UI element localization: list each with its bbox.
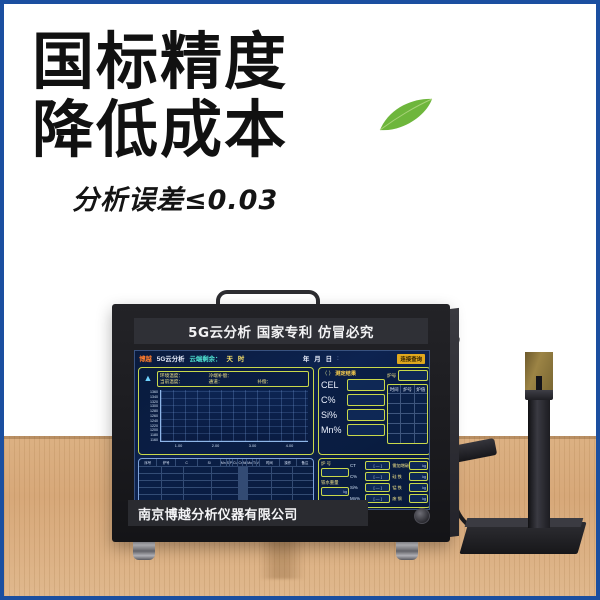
cell xyxy=(388,404,401,413)
cell xyxy=(139,481,162,487)
y-tick: 1340 xyxy=(140,395,158,399)
foot-left xyxy=(133,540,155,560)
cell xyxy=(162,488,185,494)
cell xyxy=(184,467,212,473)
calc-element-ct: CT xyxy=(350,463,363,468)
result-side-column: 炉号 时间 炉号 炉值 xyxy=(387,370,428,452)
y-tick: 1300 xyxy=(140,404,158,408)
cell xyxy=(212,467,240,473)
graph-readout-labels: 环境温度： 冷端补偿： 当前温度： 通道： 补偿： xyxy=(157,371,309,387)
cell xyxy=(415,394,427,403)
cell xyxy=(401,414,414,423)
y-tick: 1260 xyxy=(140,414,158,418)
log-col: 序号 xyxy=(139,459,157,466)
brand-footer-bar: 南京博越分析仪器有限公司 xyxy=(128,500,368,526)
history-col-time: 时间 xyxy=(388,385,401,393)
log-table-header: 序号 炉号 C Si Mn S P Cu Cr Ni Mo Ti V 时间 xyxy=(139,459,313,467)
result-row-c: C% xyxy=(321,394,385,406)
power-button[interactable] xyxy=(414,508,430,524)
result-row-mn: Mn% xyxy=(321,424,385,436)
instrument-side-panel xyxy=(450,308,459,537)
cell xyxy=(415,434,427,443)
table-row[interactable] xyxy=(139,474,313,481)
calc-weight-label: 铁水重量 xyxy=(321,480,349,486)
cell xyxy=(248,467,272,473)
foot-right xyxy=(396,540,418,560)
y-tick: 1240 xyxy=(140,419,158,423)
result-rows: CEL C% Si% Mn% xyxy=(321,379,385,439)
table-row[interactable] xyxy=(139,481,313,488)
cell xyxy=(162,474,185,480)
log-col: C xyxy=(176,459,198,466)
y-tick: 1320 xyxy=(140,400,158,404)
cell xyxy=(293,474,313,480)
cell xyxy=(248,488,272,494)
probe-stand-column xyxy=(528,396,550,528)
date-day-label: 日 xyxy=(326,354,332,363)
y-tick: 1220 xyxy=(140,424,158,428)
log-col: 操作 xyxy=(280,459,297,466)
probe-stand-base-top xyxy=(465,518,584,527)
result-label-mn: Mn% xyxy=(321,425,344,435)
cell xyxy=(388,414,401,423)
calc-furnace-label: 炉 号 xyxy=(321,461,349,467)
cell xyxy=(388,434,401,443)
date-month-label: 月 xyxy=(314,354,320,363)
headline-line-1: 国标精度 xyxy=(32,30,452,94)
calc-rows: CT [ — ] 需加增碳 C% [ — ] 硅 铁 xyxy=(350,461,428,505)
leaf-icon xyxy=(376,96,436,141)
cell xyxy=(272,481,293,487)
log-col: Si xyxy=(198,459,220,466)
calc-weight-input[interactable] xyxy=(321,487,349,496)
screen-body: ▲ 环境温度： 冷端补偿： 当前温度： 通道： 补偿： 1360 1340 13… xyxy=(138,367,426,506)
result-value-mn[interactable] xyxy=(347,424,385,436)
y-tick: 1280 xyxy=(140,409,158,413)
x-tick: 1.00 xyxy=(175,444,182,452)
graph-x-axis: 1.00 2.00 3.00 4.00 xyxy=(160,444,308,452)
cell xyxy=(248,481,272,487)
history-table[interactable]: 时间 炉号 炉值 xyxy=(387,384,428,444)
cell xyxy=(415,414,427,423)
calc-result-si[interactable] xyxy=(409,483,428,492)
temperature-graph-panel[interactable]: ▲ 环境温度： 冷端补偿： 当前温度： 通道： 补偿： 1360 1340 13… xyxy=(138,367,314,455)
cell xyxy=(401,394,414,403)
result-row-si: Si% xyxy=(321,409,385,421)
calc-range-mn[interactable]: [ — ] xyxy=(365,494,390,503)
probe-brass-notch xyxy=(536,376,542,390)
cell xyxy=(401,434,414,443)
screen-product: 5G云分析 xyxy=(157,354,185,363)
cell xyxy=(212,474,240,480)
cell xyxy=(162,481,185,487)
calc-range-ct[interactable]: [ — ] xyxy=(365,461,390,470)
calc-element-si: Si% xyxy=(350,485,363,490)
cell xyxy=(162,467,185,473)
calc-result-ct[interactable] xyxy=(409,461,428,470)
cell xyxy=(388,394,401,403)
furnace-number-field[interactable]: 炉号 xyxy=(387,370,428,381)
result-value-si[interactable] xyxy=(347,409,385,421)
query-button[interactable]: 连接查询 xyxy=(397,354,425,364)
cell xyxy=(272,474,293,480)
history-table-header: 时间 炉号 炉值 xyxy=(388,385,427,394)
time-separator: : xyxy=(337,355,339,362)
log-col: 备注 xyxy=(297,459,313,466)
calc-left-column: 炉 号 铁水重量 xyxy=(321,461,349,499)
furnace-number-input[interactable] xyxy=(398,370,428,381)
graph-plot-area xyxy=(160,390,308,442)
calc-row-c: C% [ — ] 硅 铁 xyxy=(350,472,428,481)
cell xyxy=(401,404,414,413)
calc-addlabel-ct: 需加增碳 xyxy=(392,463,407,469)
graph-y-axis: 1360 1340 1320 1300 1280 1260 1240 1220 … xyxy=(140,390,159,442)
cell xyxy=(415,424,427,433)
calc-range-c[interactable]: [ — ] xyxy=(365,472,390,481)
cell xyxy=(139,467,162,473)
calc-row-ct: CT [ — ] 需加增碳 xyxy=(350,461,428,470)
cell xyxy=(139,488,162,494)
measurement-result-panel[interactable]: （ ） 测定结果 CEL C% Si% xyxy=(318,367,430,455)
cloud-remaining-label: 云端剩余： xyxy=(189,354,221,363)
cloud-remaining-days: 天 xyxy=(226,354,232,363)
result-label-cel: CEL xyxy=(321,380,344,390)
y-tick: 1160 xyxy=(140,438,158,442)
graph-label-4: 通道： xyxy=(209,379,258,385)
cell xyxy=(272,467,293,473)
instrument-screen[interactable]: 博越 5G云分析 云端剩余： 天 时 年 月 日 : 连接查询 ▲ 环境温度： xyxy=(134,350,430,510)
calc-range-si[interactable]: [ — ] xyxy=(365,483,390,492)
cell xyxy=(293,467,313,473)
cell xyxy=(139,474,162,480)
calc-row-si: Si% [ — ] 锰 铁 xyxy=(350,483,428,492)
cell xyxy=(184,474,212,480)
cell xyxy=(212,488,240,494)
cell xyxy=(272,488,293,494)
cloud-remaining-hours: 时 xyxy=(238,354,244,363)
x-tick: 4.00 xyxy=(286,444,293,452)
graph-label-5: 补偿： xyxy=(257,379,306,385)
log-col: 时间 xyxy=(260,459,280,466)
x-tick: 2.00 xyxy=(212,444,219,452)
x-tick: 3.00 xyxy=(249,444,256,452)
result-row-cel: CEL xyxy=(321,379,385,391)
result-title-prefix: （ ） xyxy=(322,371,334,377)
result-label-si: Si% xyxy=(321,410,344,420)
cell xyxy=(184,488,212,494)
result-value-cel[interactable] xyxy=(347,379,385,391)
calc-addlabel-si: 锰 铁 xyxy=(392,485,407,491)
poster-canvas: 国标精度 降低成本 分析误差≤0.03 5G云分析 国家专利 仿冒必究 xyxy=(0,0,600,600)
table-row[interactable] xyxy=(139,467,313,474)
table-row[interactable] xyxy=(388,434,427,443)
history-col-furnace: 炉号 xyxy=(401,385,414,393)
y-tick: 1360 xyxy=(140,390,158,394)
table-row[interactable] xyxy=(388,404,427,414)
result-label-c: C% xyxy=(321,395,344,405)
result-title: 测定结果 xyxy=(335,371,356,377)
date-year-label: 年 xyxy=(303,354,309,363)
top-banner-text: 5G云分析 国家专利 仿冒必究 xyxy=(188,321,374,341)
graph-logo-icon: ▲ xyxy=(142,372,154,384)
calc-addlabel-c: 硅 铁 xyxy=(392,474,407,480)
calc-addlabel-mn: 废 钢 xyxy=(392,496,407,502)
screen-brand: 博越 xyxy=(139,354,152,363)
headline-subline: 分析误差≤0.03 xyxy=(72,178,452,217)
cell xyxy=(248,474,272,480)
instrument-chassis: 5G云分析 国家专利 仿冒必究 博越 5G云分析 云端剩余： 天 时 年 月 日… xyxy=(112,304,450,542)
calc-furnace-input[interactable] xyxy=(321,468,349,477)
cell xyxy=(401,424,414,433)
calc-element-c: C% xyxy=(350,474,363,479)
result-value-c[interactable] xyxy=(347,394,385,406)
log-col: 炉号 xyxy=(157,459,175,466)
furnace-number-label: 炉号 xyxy=(387,373,396,379)
y-tick: 1200 xyxy=(140,428,158,432)
result-panel-title: （ ） 测定结果 xyxy=(322,370,356,377)
table-row[interactable] xyxy=(139,488,313,495)
cell xyxy=(212,481,240,487)
brand-footer-text: 南京博越分析仪器有限公司 xyxy=(138,504,298,523)
history-col-value: 炉值 xyxy=(415,385,427,393)
cell xyxy=(415,404,427,413)
cell xyxy=(184,481,212,487)
graph-label-3: 当前温度： xyxy=(160,379,209,385)
table-row[interactable] xyxy=(388,414,427,424)
calc-result-mn[interactable] xyxy=(409,494,428,503)
cell xyxy=(293,488,313,494)
table-row[interactable] xyxy=(388,394,427,404)
top-banner: 5G云分析 国家专利 仿冒必究 xyxy=(134,318,428,344)
cell xyxy=(293,481,313,487)
y-tick: 1180 xyxy=(140,433,158,437)
cell xyxy=(388,424,401,433)
screen-header: 博越 5G云分析 云端剩余： 天 时 年 月 日 : 连接查询 xyxy=(135,351,429,366)
calc-result-c[interactable] xyxy=(409,472,428,481)
table-row[interactable] xyxy=(388,424,427,434)
